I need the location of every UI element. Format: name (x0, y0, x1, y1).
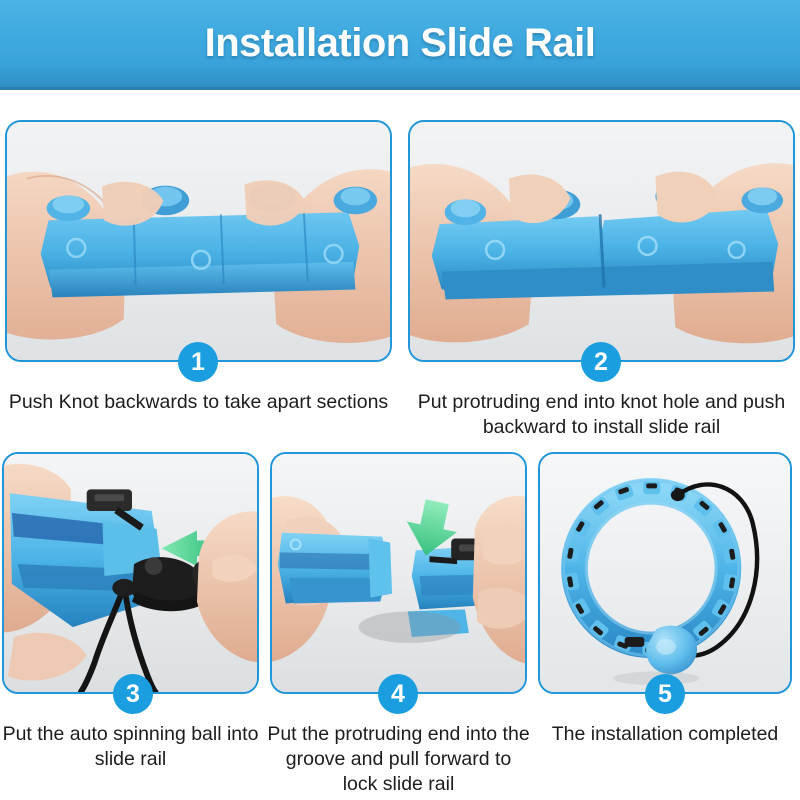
step-badge-3: 3 (113, 674, 153, 714)
step-caption-1: Push Knot backwards to take apart sectio… (5, 390, 392, 415)
step-badge-4: 4 (378, 674, 418, 714)
step-3-illustration (4, 454, 257, 692)
page-title: Installation Slide Rail (205, 21, 596, 66)
step-image-3 (2, 452, 259, 694)
step-image-5 (538, 452, 792, 694)
step-4-illustration (272, 454, 525, 692)
step-1-illustration (7, 122, 390, 360)
step-badge-5: 5 (645, 674, 685, 714)
step-2-illustration (410, 122, 793, 360)
header-banner: Installation Slide Rail (0, 0, 800, 90)
step-caption-5: The installation completed (538, 722, 792, 747)
step-image-1 (5, 120, 392, 362)
step-badge-2: 2 (581, 342, 621, 382)
step-5-illustration (540, 454, 790, 692)
step-image-2 (408, 120, 795, 362)
step-caption-3: Put the auto spinning ball into slide ra… (2, 722, 259, 772)
step-badge-1: 1 (178, 342, 218, 382)
step-caption-4: Put the protruding end into the groove a… (266, 722, 531, 797)
step-caption-2: Put protruding end into knot hole and pu… (408, 390, 795, 440)
instruction-infographic: Installation Slide Rail (0, 0, 800, 800)
step-image-4 (270, 452, 527, 694)
